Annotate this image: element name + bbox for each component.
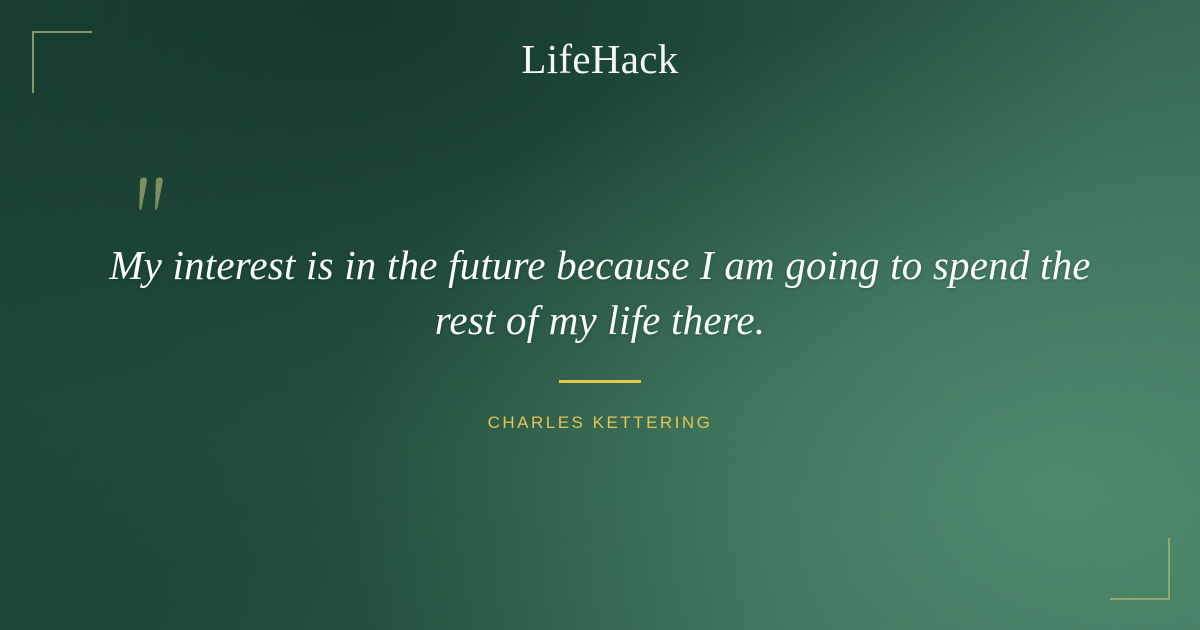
quote-author: CHARLES KETTERING xyxy=(0,414,1200,431)
brand-logo: LifeHack xyxy=(0,39,1200,80)
divider xyxy=(559,380,641,383)
double-quote-icon xyxy=(128,168,178,216)
quote-card: LifeHack My interest is in the future be… xyxy=(0,0,1200,630)
corner-bracket-bottom-right-icon xyxy=(1110,538,1170,600)
double-quote-svg xyxy=(128,168,178,216)
quote-text: My interest is in the future because I a… xyxy=(100,238,1100,347)
quote-block: My interest is in the future because I a… xyxy=(100,238,1100,347)
